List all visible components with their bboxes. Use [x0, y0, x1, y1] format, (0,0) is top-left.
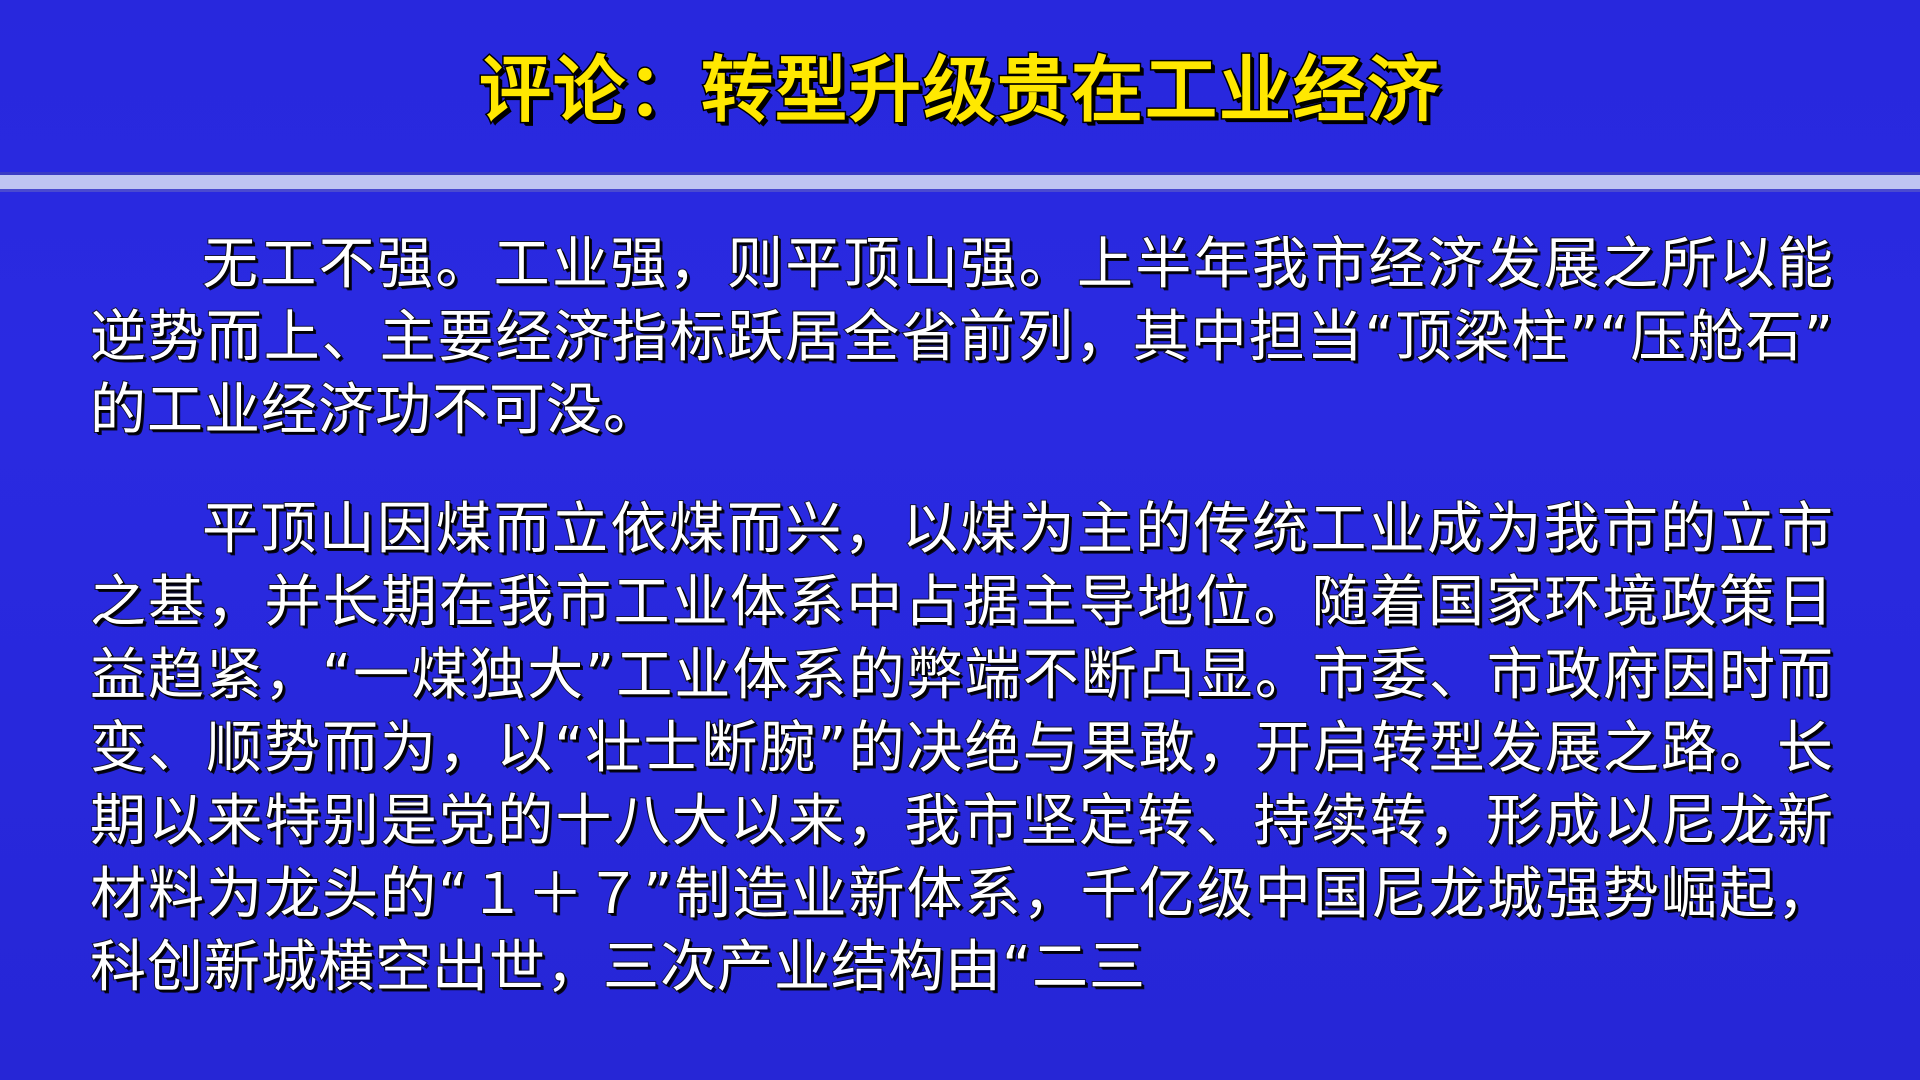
divider-bottom-rule [0, 189, 1920, 192]
slide-body: 无工不强。工业强，则平顶山强。上半年我市经济发展之所以能逆势而上、主要经济指标跃… [0, 196, 1920, 1080]
title-band: 评论：转型升级贵在工业经济 [0, 0, 1920, 172]
body-paragraph-1: 无工不强。工业强，则平顶山强。上半年我市经济发展之所以能逆势而上、主要经济指标跃… [90, 228, 1834, 447]
presentation-slide: 评论：转型升级贵在工业经济 无工不强。工业强，则平顶山强。上半年我市经济发展之所… [0, 0, 1920, 1080]
slide-title: 评论：转型升级贵在工业经济 [479, 54, 1441, 126]
divider-light-band [0, 175, 1920, 189]
title-divider [0, 172, 1920, 194]
body-paragraph-2: 平顶山因煤而立依煤而兴，以煤为主的传统工业成为我市的立市之基，并长期在我市工业体… [90, 493, 1834, 1004]
